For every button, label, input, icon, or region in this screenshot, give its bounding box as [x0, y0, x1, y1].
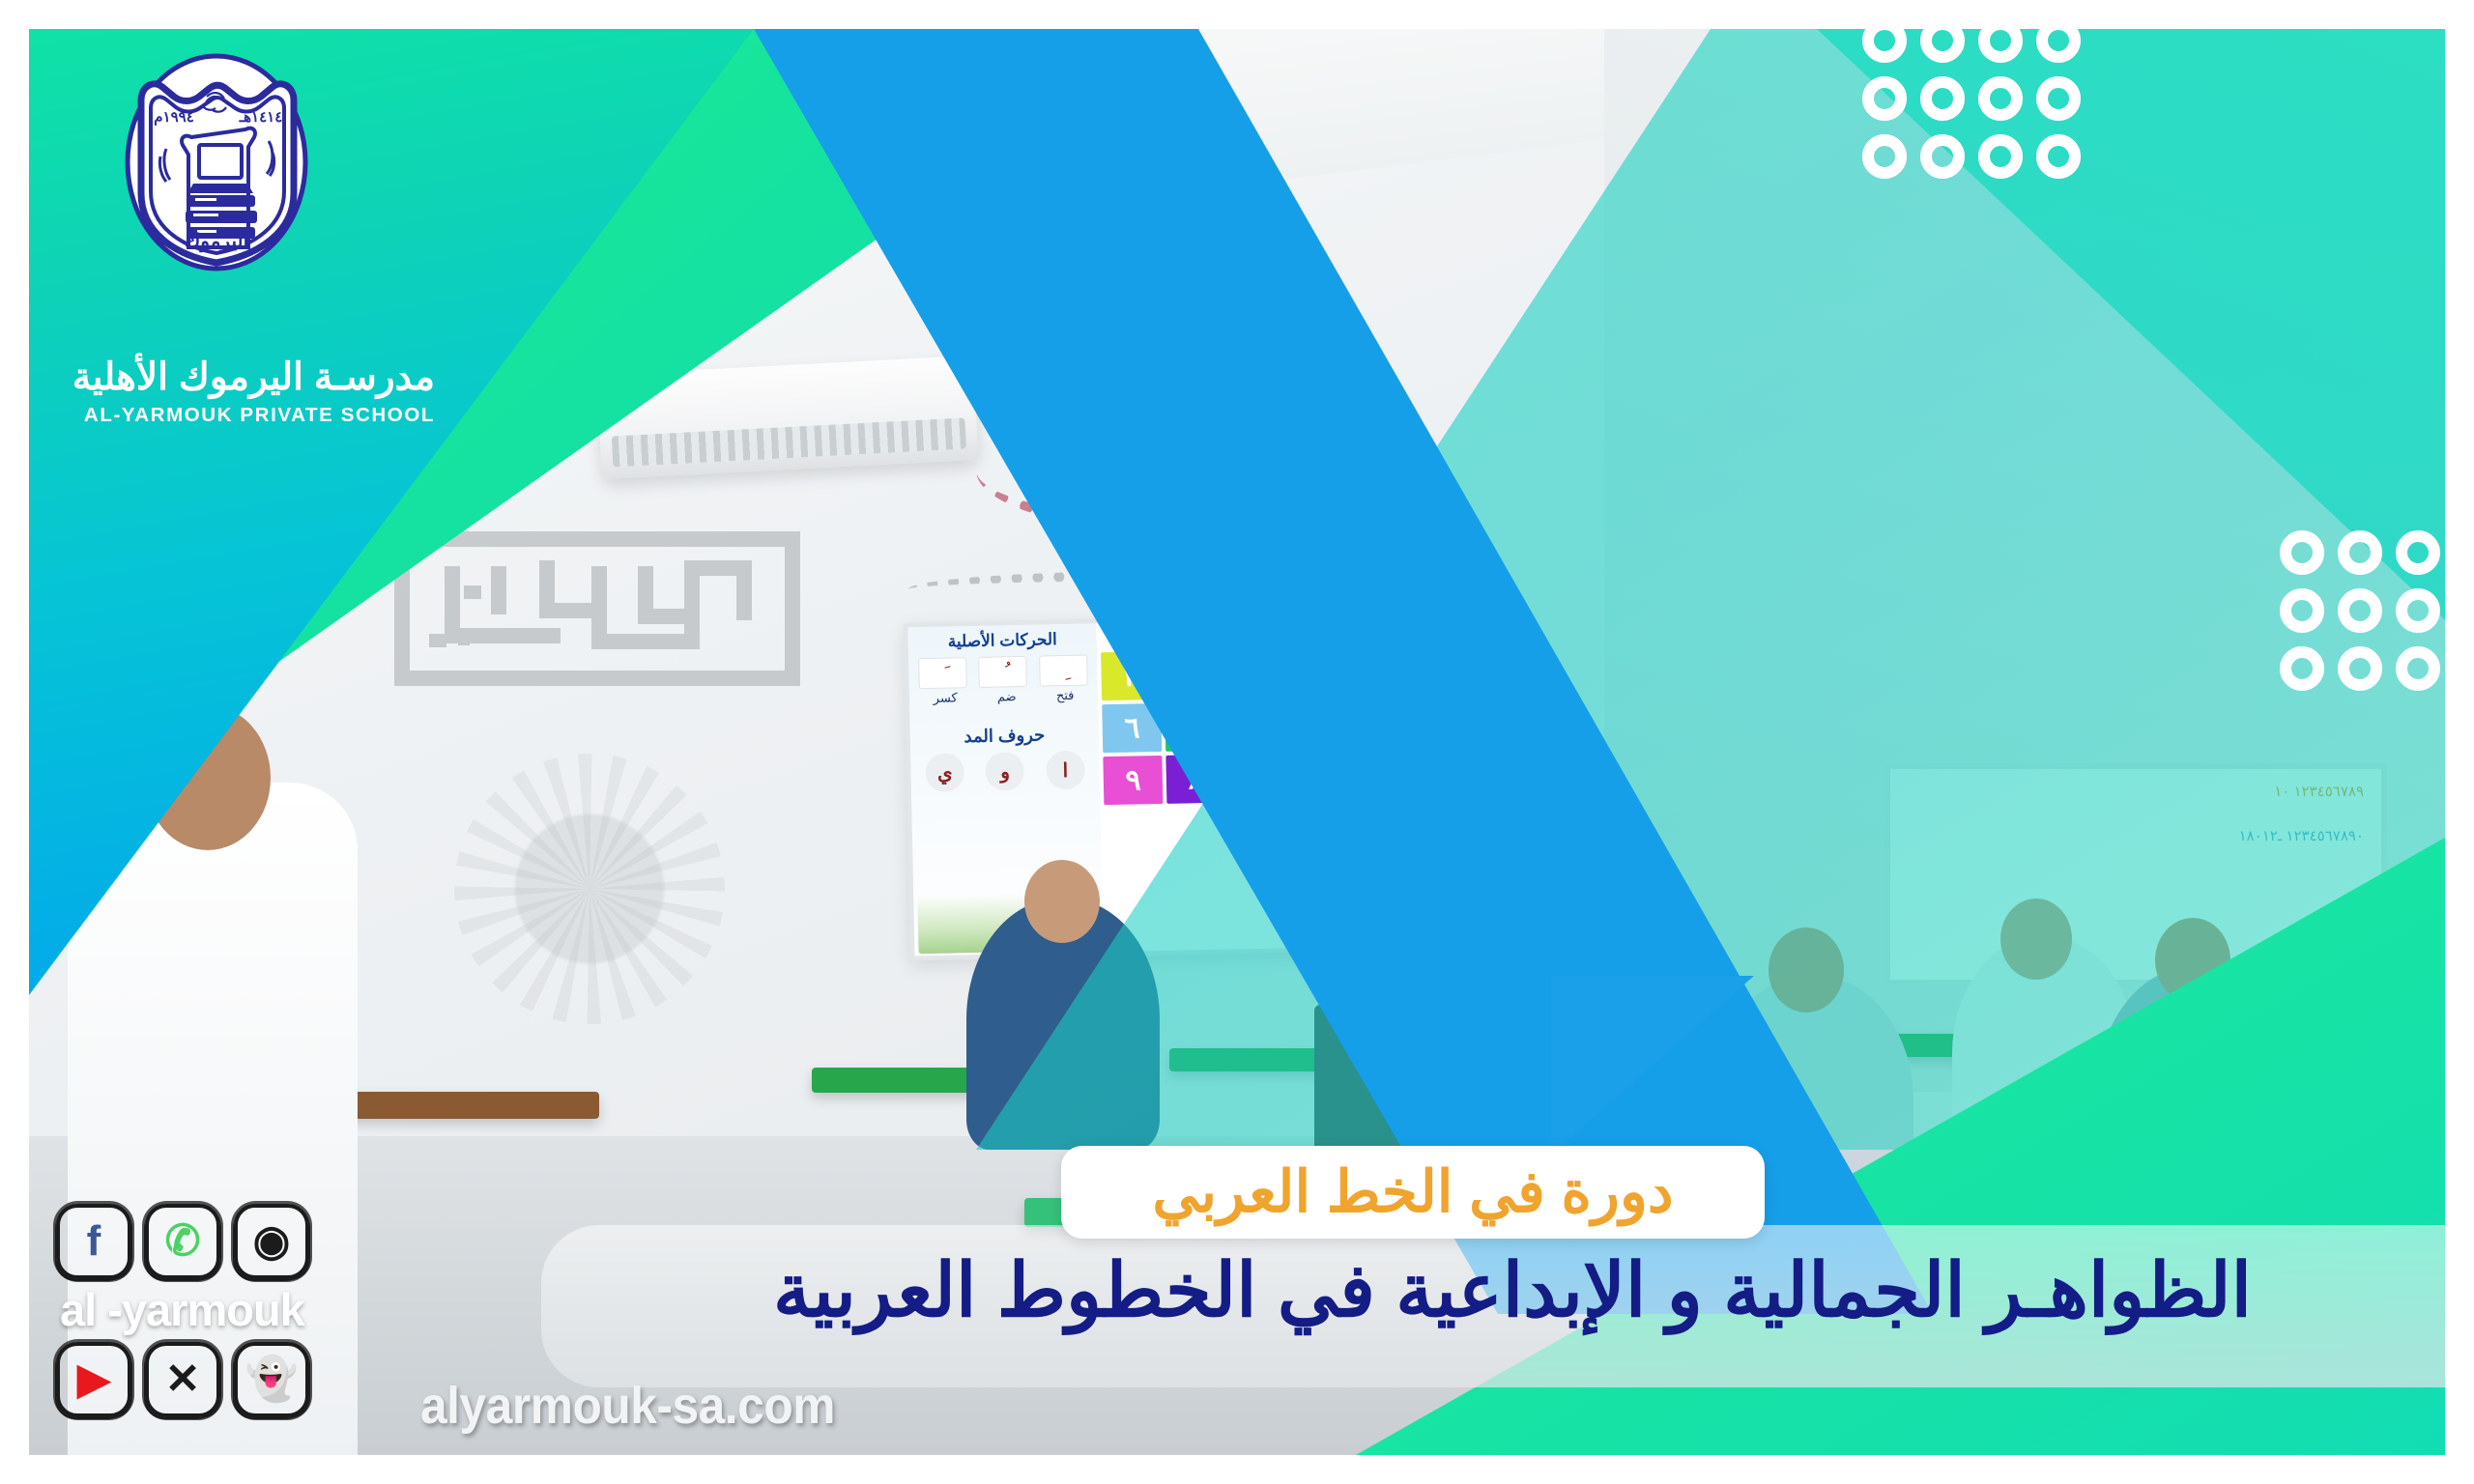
madd-cells: ي و ا	[914, 750, 1096, 792]
vowel-cell: َ	[918, 657, 967, 689]
decorative-dot	[2036, 134, 2081, 179]
decorative-dot	[1978, 76, 2023, 121]
attendee-head	[1024, 860, 1100, 943]
dot-grid-top	[1855, 12, 2087, 185]
vowel-name: كسر	[934, 690, 958, 706]
margin-bottom	[0, 1455, 2474, 1484]
decorative-dot	[2396, 646, 2440, 691]
school-crest-icon: ١٩٩٤م ١٤١٤هـ اليرموك	[124, 48, 309, 272]
circular-calligraphy	[454, 754, 725, 1024]
whatsapp-icon[interactable]: ✆	[145, 1204, 220, 1279]
madd-cell: ا	[1046, 751, 1085, 790]
kufic-calligraphy	[394, 531, 800, 705]
instagram-icon[interactable]: ◉	[234, 1204, 309, 1279]
vowel-names: فتح ضم كسر	[913, 687, 1094, 706]
margin-top	[0, 0, 2474, 29]
decorative-dot	[2280, 588, 2324, 633]
decorative-dot	[2280, 530, 2324, 575]
school-name-english: AL-YARMOUK PRIVATE SCHOOL	[29, 404, 435, 427]
decorative-dot	[1920, 76, 1965, 121]
social-row-top: f✆◉	[56, 1204, 462, 1279]
margin-right	[2445, 0, 2474, 1484]
social-handle: al -yarmouk	[60, 1283, 462, 1336]
vowel-cells: َ ُ ِ	[912, 654, 1094, 689]
chart-madd-title: حروف المد	[914, 724, 1095, 748]
decorative-dot	[2396, 588, 2440, 633]
vowel-cell: ِ	[1039, 655, 1088, 687]
youtube-icon[interactable]: ▶	[56, 1342, 131, 1417]
madd-cell: ي	[925, 753, 964, 792]
svg-text:١٤١٤هـ: ١٤١٤هـ	[239, 109, 283, 126]
decorative-dot	[1920, 134, 1965, 179]
snapchat-icon[interactable]: 👻	[234, 1342, 309, 1417]
chart-vowels-title: الحركات الأصلية	[912, 629, 1093, 652]
svg-text:اليرموك: اليرموك	[185, 231, 248, 253]
facebook-icon-glyph: f	[87, 1220, 101, 1263]
course-label-text: دورة في الخط العربي	[1152, 1163, 1673, 1221]
snapchat-icon-glyph: 👻	[245, 1358, 299, 1401]
decorative-dot	[1862, 76, 1907, 121]
dot-grid-right	[2273, 524, 2474, 698]
course-label-pill: دورة في الخط العربي	[1061, 1146, 1765, 1239]
number-tile: ٩	[1103, 756, 1163, 805]
madd-cell: و	[986, 752, 1025, 791]
x-twitter-icon[interactable]: ✕	[145, 1342, 220, 1417]
school-logo: ١٩٩٤م ١٤١٤هـ اليرموك	[116, 37, 319, 283]
x-twitter-icon-glyph: ✕	[165, 1358, 201, 1401]
margin-left	[0, 0, 29, 1484]
social-row-bottom: ▶✕👻	[56, 1342, 462, 1417]
decorative-dot	[2396, 530, 2440, 575]
vowel-name: فتح	[1056, 688, 1075, 703]
vowel-name: ضم	[997, 689, 1017, 704]
vowel-cell: ُ	[979, 656, 1028, 688]
decorative-dot	[2280, 646, 2324, 691]
main-title: الظواهـر الجمالية و الإبداعية في الخطوط …	[580, 1244, 2445, 1360]
poster-root: الحركات الأصلية َ ُ ِ فتح ضم كسر حروف ال…	[0, 0, 2474, 1484]
instagram-icon-glyph: ◉	[253, 1220, 290, 1263]
school-name-block: مدرسـة اليرموك الأهلية AL-YARMOUK PRIVAT…	[29, 356, 435, 427]
decorative-dot	[2338, 588, 2382, 633]
decorative-dot	[1862, 134, 1907, 179]
social-block: f✆◉ al -yarmouk ▶✕👻	[56, 1204, 462, 1417]
whatsapp-icon-glyph: ✆	[165, 1220, 201, 1263]
website-url[interactable]: alyarmouk-sa.com	[420, 1376, 835, 1436]
decorative-dot	[2338, 530, 2382, 575]
school-name-arabic: مدرسـة اليرموك الأهلية	[29, 356, 435, 400]
youtube-icon-glyph: ▶	[77, 1358, 110, 1401]
decorative-dot	[1978, 134, 2023, 179]
facebook-icon[interactable]: f	[56, 1204, 131, 1279]
svg-text:١٩٩٤م: ١٩٩٤م	[154, 109, 194, 126]
decorative-dot	[2036, 76, 2081, 121]
decorative-dot	[2338, 646, 2382, 691]
